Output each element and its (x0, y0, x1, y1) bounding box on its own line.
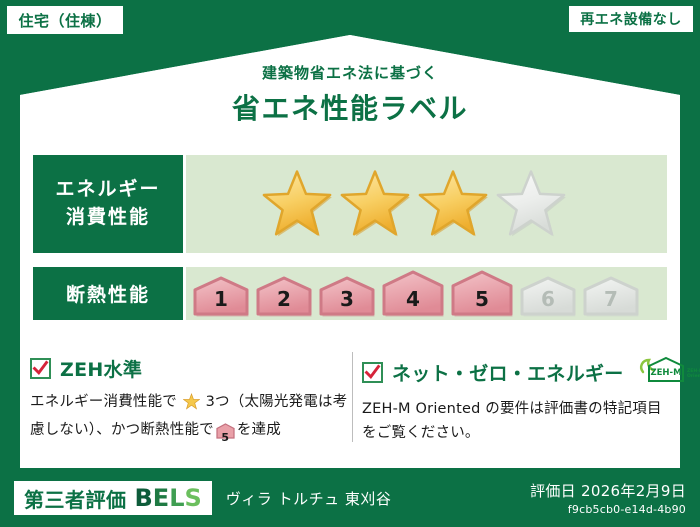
zeh-m-logo: ZEH-M ZEH-M Oriented (637, 355, 700, 389)
tag-housing-type: 住宅（住棟） (6, 5, 124, 35)
insulation-level-filled: 5 (449, 270, 515, 318)
star-empty-icon (495, 168, 567, 240)
footer-bar: 第三者評価 BELS ヴィラ トルチュ 東刈谷 評価日 2026年2月9日 f9… (0, 469, 700, 527)
bels-letter: L (169, 484, 184, 512)
energy-consumption-label-line1: エネルギー (55, 176, 160, 204)
checkmark-icon (362, 362, 383, 383)
bels-letter: E (153, 484, 169, 512)
insulation-level-filled: 4 (380, 270, 446, 318)
checkmark-icon (30, 358, 51, 379)
insulation-level-empty: 6 (518, 276, 578, 318)
tag-renewable-equipment-label: 再エネ設備なし (580, 9, 682, 29)
tag-renewable-equipment: 再エネ設備なし (568, 5, 694, 33)
star-filled-icon (261, 168, 333, 240)
energy-performance-label: 住宅（住棟） 再エネ設備なし 建築物省エネ法に基づく 省エネ性能ラベル エネルギ… (0, 0, 700, 527)
page-title-block: 建築物省エネ法に基づく 省エネ性能ラベル (0, 62, 700, 127)
energy-consumption-row: エネルギー 消費性能 (33, 155, 667, 253)
star-filled-icon (417, 168, 489, 240)
criteria-zeh-standard: ZEH水準 エネルギー消費性能で 3つ（太陽光発電は考慮しない）、かつ断熱性能で… (30, 355, 350, 448)
inline-house-badge-number: 5 (216, 429, 235, 447)
criteria-net-zero-energy-header: ネット・ゼロ・エネルギー ZEH-M ZEH-M Oriented (362, 355, 674, 389)
insulation-level-scale: 1234567 (186, 270, 641, 318)
svg-text:Oriented: Oriented (687, 373, 700, 379)
inline-house-badge: 5 (216, 423, 235, 448)
bels-badge-en-label: BELS (135, 484, 202, 512)
inline-star-icon (178, 398, 205, 414)
insulation-level-filled: 3 (317, 276, 377, 318)
criteria-divider (352, 352, 353, 442)
evaluation-id: f9cb5cb0-e14d-4b90 (568, 503, 686, 516)
criteria-zeh-body-post: を達成 (237, 422, 281, 438)
svg-text:ZEH-M: ZEH-M (650, 368, 681, 378)
energy-consumption-panel (186, 155, 667, 253)
evaluation-date: 評価日 2026年2月9日 (530, 480, 686, 501)
page-title: 省エネ性能ラベル (0, 87, 700, 127)
bels-badge: 第三者評価 BELS (14, 481, 212, 515)
insulation-performance-label-text: 断熱性能 (66, 280, 150, 307)
building-name: ヴィラ トルチュ 東刈谷 (226, 488, 530, 509)
svg-text:ZEH-M: ZEH-M (687, 368, 700, 374)
criteria-zeh-body-pre: エネルギー消費性能で (30, 394, 177, 410)
star-filled-icon (339, 168, 411, 240)
insulation-performance-label: 断熱性能 (33, 267, 183, 320)
bels-badge-jp-label: 第三者評価 (24, 484, 127, 513)
tag-housing-type-label: 住宅（住棟） (18, 10, 111, 31)
bels-letter: S (185, 484, 202, 512)
insulation-level-filled: 1 (191, 276, 251, 318)
star-rating (186, 168, 567, 240)
page-subtitle: 建築物省エネ法に基づく (0, 62, 700, 83)
criteria-zeh-standard-header: ZEH水準 (30, 355, 350, 382)
insulation-level-empty: 7 (581, 276, 641, 318)
criteria-net-zero-energy-body: ZEH-M Oriented の要件は評価書の特記項目をご覧ください。 (362, 398, 674, 446)
evaluation-info: 評価日 2026年2月9日 f9cb5cb0-e14d-4b90 (530, 480, 686, 516)
energy-consumption-label: エネルギー 消費性能 (33, 155, 183, 253)
criteria-zeh-standard-body: エネルギー消費性能で 3つ（太陽光発電は考慮しない）、かつ断熱性能で 5 を達成 (30, 391, 350, 448)
bels-letter: B (135, 484, 153, 512)
criteria-net-zero-energy-title: ネット・ゼロ・エネルギー (392, 359, 624, 386)
insulation-level-filled: 2 (254, 276, 314, 318)
insulation-performance-row: 断熱性能 1234567 (33, 267, 667, 320)
energy-consumption-label-line2: 消費性能 (66, 204, 150, 232)
criteria-zeh-standard-title: ZEH水準 (60, 355, 142, 382)
insulation-performance-panel: 1234567 (186, 267, 667, 320)
criteria-net-zero-energy: ネット・ゼロ・エネルギー ZEH-M ZEH-M Oriented ZEH-M … (362, 355, 674, 446)
